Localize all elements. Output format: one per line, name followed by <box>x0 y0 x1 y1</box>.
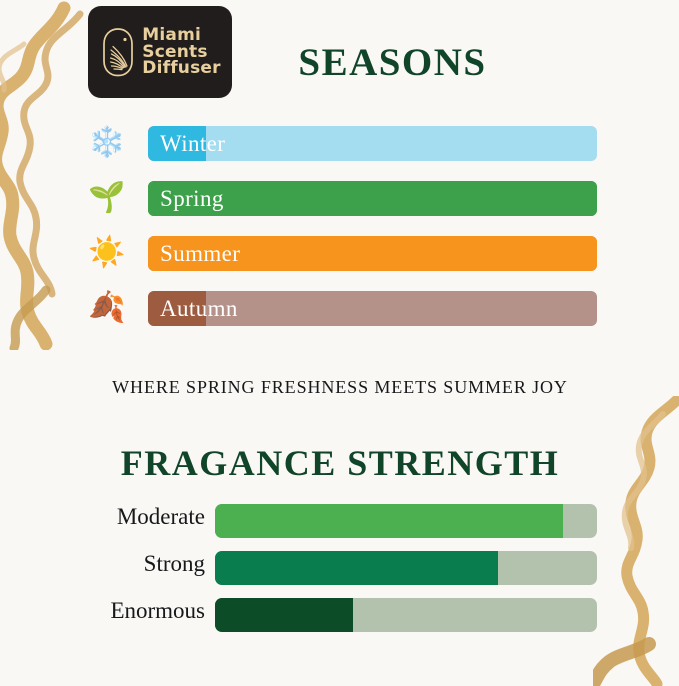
strength-track-moderate <box>215 504 597 538</box>
strength-title: FRAGANCE STRENGTH <box>120 442 560 484</box>
season-bar-winter: Winter <box>148 126 597 161</box>
strength-track-enormous <box>215 598 597 632</box>
strength-row-moderate: Moderate <box>0 500 679 547</box>
season-label-summer: Summer <box>160 236 240 271</box>
seasons-title: SEASONS <box>250 40 535 85</box>
strength-fill-enormous <box>215 598 353 632</box>
strength-track-strong <box>215 551 597 585</box>
strength-label-strong: Strong <box>20 547 205 581</box>
infographic-canvas: Miami Scents Diffuser SEASONS ❄️ Winter … <box>0 0 679 679</box>
strength-row-strong: Strong <box>0 547 679 594</box>
strength-label-moderate: Moderate <box>20 500 205 534</box>
season-label-winter: Winter <box>160 126 225 161</box>
fallen-leaves-icon: 🍂 <box>84 290 130 326</box>
brand-logo-line-3: Diffuser <box>142 60 220 77</box>
brand-logo: Miami Scents Diffuser <box>88 6 232 98</box>
seedling-icon: 🌱 <box>84 180 130 216</box>
season-row-spring: 🌱 Spring <box>0 178 679 233</box>
strength-chart: Moderate Strong Enormous <box>0 500 679 641</box>
season-label-autumn: Autumn <box>160 291 238 326</box>
season-row-autumn: 🍂 Autumn <box>0 288 679 343</box>
strength-row-enormous: Enormous <box>0 594 679 641</box>
snowflake-icon: ❄️ <box>84 125 130 161</box>
bird-feather-icon <box>101 26 135 78</box>
season-row-summer: ☀️ Summer <box>0 233 679 288</box>
season-bar-autumn: Autumn <box>148 291 597 326</box>
seasons-chart: ❄️ Winter 🌱 Spring ☀️ Summer 🍂 <box>0 123 679 343</box>
season-label-spring: Spring <box>160 181 224 216</box>
strength-fill-strong <box>215 551 498 585</box>
season-row-winter: ❄️ Winter <box>0 123 679 178</box>
season-bar-summer: Summer <box>148 236 597 271</box>
brand-logo-text: Miami Scents Diffuser <box>142 27 220 77</box>
strength-fill-moderate <box>215 504 563 538</box>
season-bar-spring: Spring <box>148 181 597 216</box>
tagline: WHERE SPRING FRESHNESS MEETS SUMMER JOY <box>40 377 640 398</box>
sun-icon: ☀️ <box>84 235 130 271</box>
strength-label-enormous: Enormous <box>20 594 205 628</box>
